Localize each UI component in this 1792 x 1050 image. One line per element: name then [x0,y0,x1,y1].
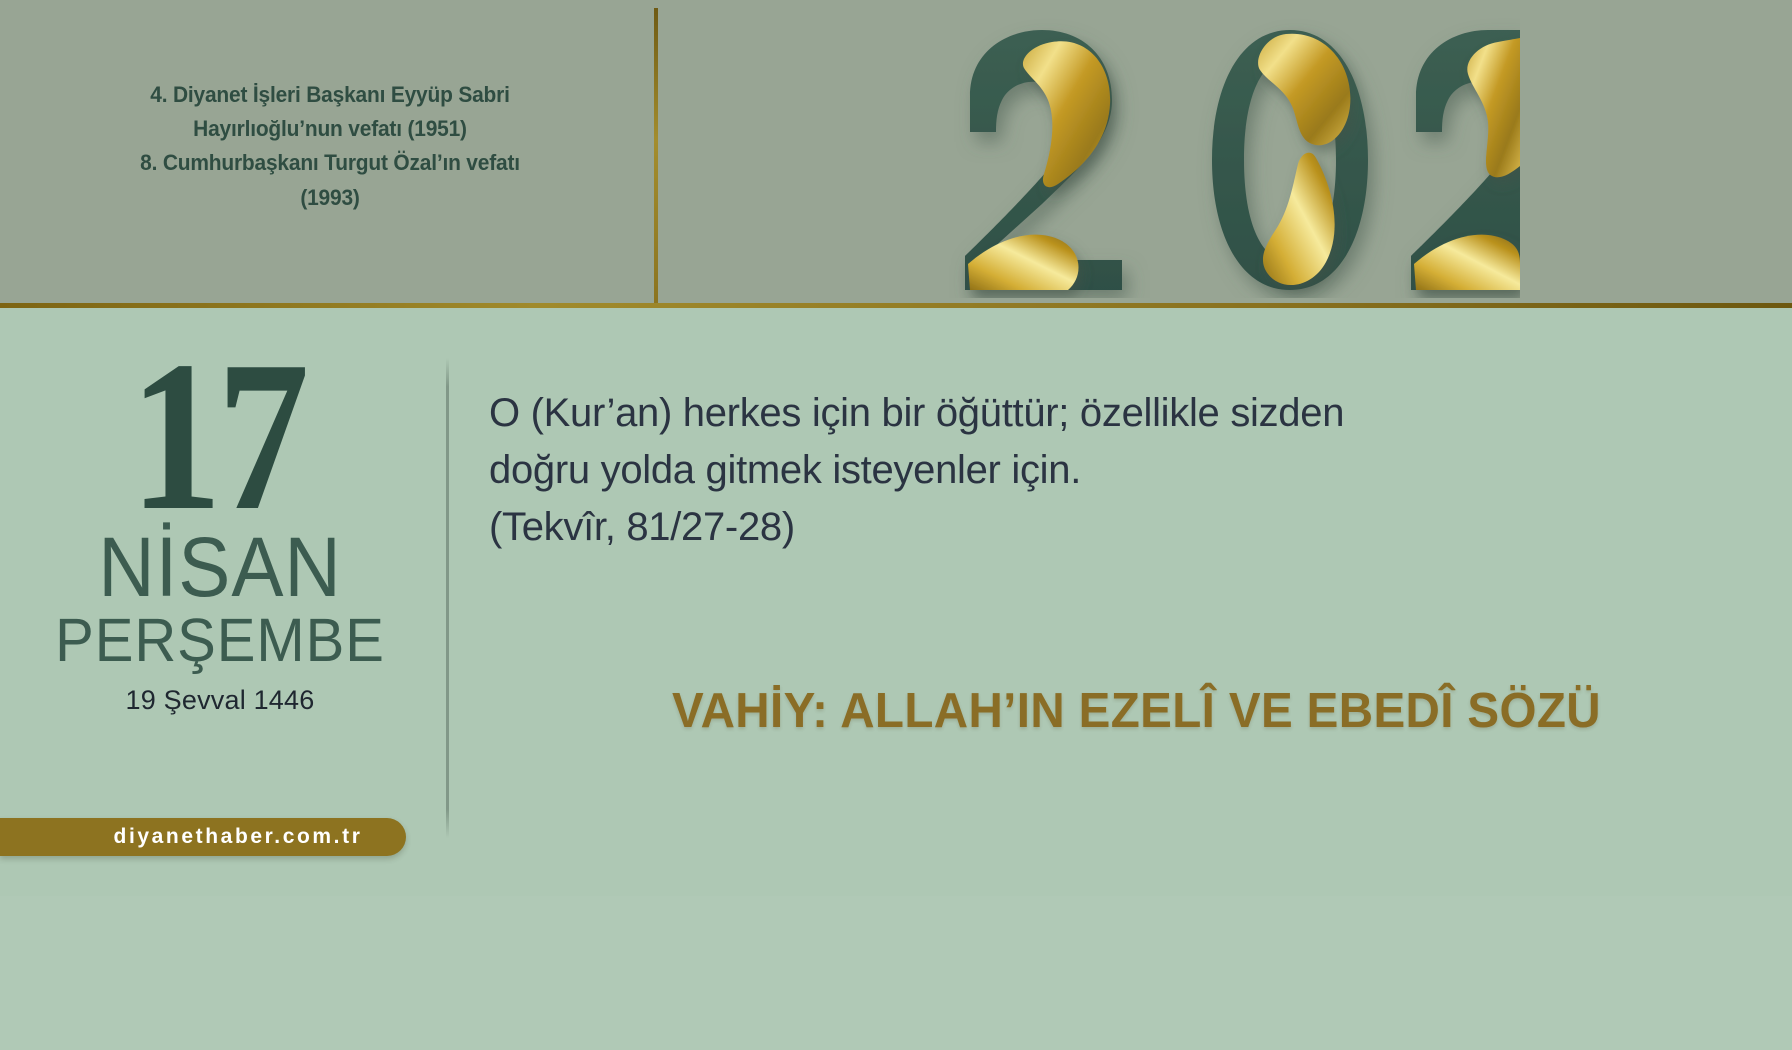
calendar-page: 4. Diyanet İşleri Başkanı Eyyüp Sabri Ha… [0,0,1792,1050]
website-url-label: diyanethaber.com.tr [44,825,363,849]
year-2025-logo [820,8,1520,298]
month-name: NİSAN [15,528,424,608]
column-divider [446,358,449,838]
quote-block: O (Kur’an) herkes için bir öğüttür; özel… [489,385,1489,555]
hijri-date: 19 Şevval 1446 [0,685,440,716]
header-band: 4. Diyanet İşleri Başkanı Eyyüp Sabri Ha… [0,0,1792,305]
website-badge[interactable]: diyanethaber.com.tr [0,818,406,856]
header-gold-rule [0,303,1792,308]
header-vertical-divider [654,8,658,303]
bottom-strip [0,896,1792,1050]
day-number: 17 [25,350,409,522]
memorial-line-3: 8. Cumhurbaşkanı Turgut Özal’ın vefatı [79,146,581,180]
memorial-line-1: 4. Diyanet İşleri Başkanı Eyyüp Sabri [79,78,581,112]
quote-line-2: doğru yolda gitmek isteyenler için. [489,442,1489,499]
memorial-notes: 4. Diyanet İşleri Başkanı Eyyüp Sabri Ha… [79,78,581,215]
memorial-line-4: (1993) [79,181,581,215]
memorial-line-2: Hayırlıoğlu’nun vefatı (1951) [79,112,581,146]
weekday-name: PERŞEMBE [11,610,429,671]
article-headline: VAHİY: ALLAH’IN EZELÎ VE EBEDÎ SÖZÜ [672,686,1700,737]
date-block: 17 NİSAN PERŞEMBE 19 Şevval 1446 [0,350,440,716]
quote-citation: (Tekvîr, 81/27-28) [489,499,1489,556]
quote-line-1: O (Kur’an) herkes için bir öğüttür; özel… [489,385,1489,442]
